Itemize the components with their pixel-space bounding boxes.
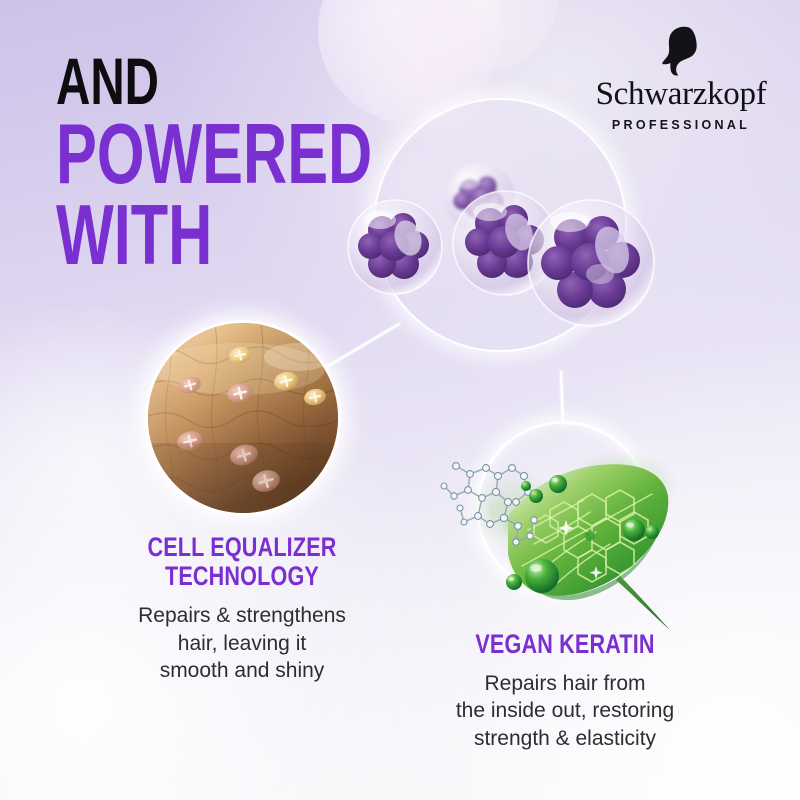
feature-title-line-2: TECHNOLOGY (95, 562, 389, 591)
schwarzkopf-head-silhouette-icon (658, 26, 704, 76)
feature-title-vegan-keratin: VEGAN KERATIN (433, 630, 697, 659)
brand-name: Schwarzkopf (586, 78, 776, 111)
feature-body-line-3: smooth and shiny (58, 657, 426, 684)
brand-logo: Schwarzkopf PROFESSIONAL (586, 26, 776, 132)
headline-line-3: WITH (56, 198, 358, 275)
headline-line-1: AND (56, 52, 358, 111)
feature-caption-cell-equalizer: CELL EQUALIZER TECHNOLOGY Repairs & stre… (58, 533, 426, 684)
headline-line-2: POWERED (56, 117, 358, 194)
feature-body-vegan-keratin: Repairs hair from the inside out, restor… (400, 670, 730, 752)
page-title: AND POWERED WITH (56, 52, 476, 278)
brand-tagline: PROFESSIONAL (586, 118, 776, 132)
feature-title-line-1: VEGAN KERATIN (433, 630, 697, 659)
feature-body-line-1: Repairs hair from (400, 670, 730, 697)
feature-title-line-1: CELL EQUALIZER (95, 533, 389, 562)
feature-body-line-2: hair, leaving it (58, 630, 426, 657)
poster-canvas: Schwarzkopf PROFESSIONAL AND POWERED WIT… (0, 0, 800, 800)
golden-hair-cuticle-circle-image (148, 323, 338, 513)
feature-body-line-2: the inside out, restoring (400, 697, 730, 724)
connector-line-leaf (561, 372, 563, 424)
feature-body-line-1: Repairs & strengthens (58, 602, 426, 629)
vegan-keratin-ring-outline (476, 421, 650, 595)
feature-body-line-3: strength & elasticity (400, 725, 730, 752)
feature-caption-vegan-keratin: VEGAN KERATIN Repairs hair from the insi… (400, 630, 730, 752)
feature-body-cell-equalizer: Repairs & strengthens hair, leaving it s… (58, 602, 426, 684)
feature-title-cell-equalizer: CELL EQUALIZER TECHNOLOGY (95, 533, 389, 591)
